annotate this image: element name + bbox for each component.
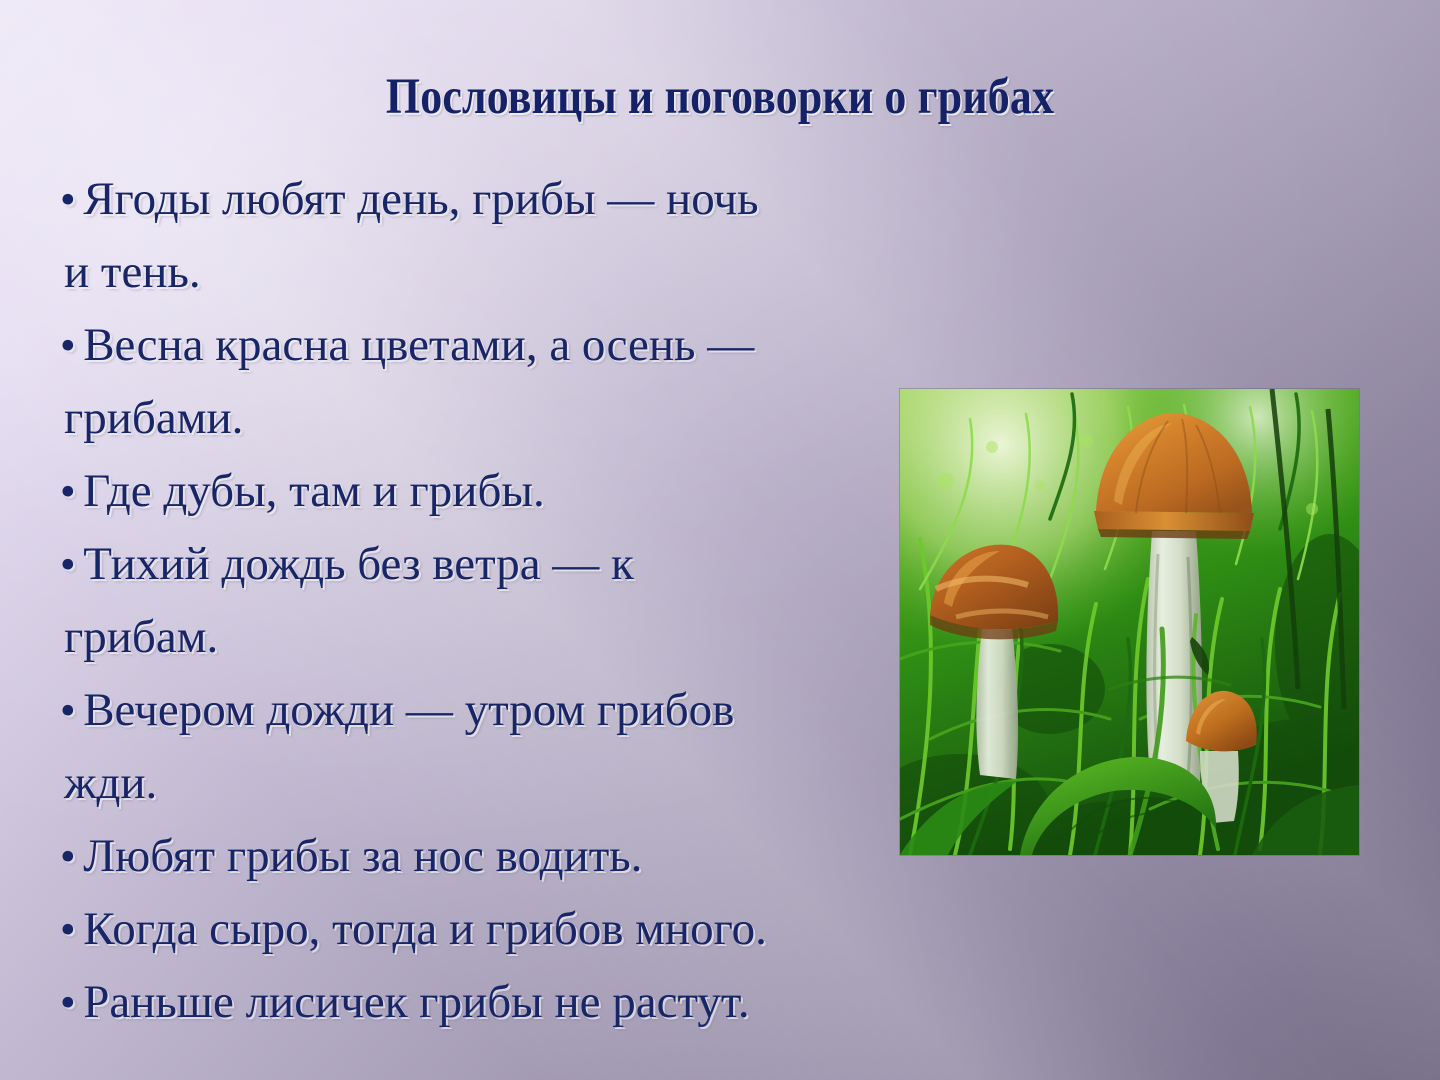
proverb-item: •Весна красна цветами, а осень —	[60, 309, 930, 382]
proverb-text: грибами.	[64, 392, 243, 444]
proverb-text: Когда сыро, тогда и грибов много.	[83, 903, 767, 955]
proverb-text: Весна красна цветами, а осень —	[83, 319, 754, 371]
proverb-text: Ягоды любят день, грибы — ночь	[83, 173, 758, 225]
mushroom-photo	[900, 389, 1359, 855]
bullet-icon: •	[60, 907, 83, 952]
mushroom-photo-image	[900, 389, 1359, 855]
proverb-continuation-line: грибам.	[60, 601, 930, 674]
proverb-text: Вечером дожди — утром грибов	[83, 684, 734, 736]
proverb-text: грибам.	[64, 611, 218, 663]
proverb-continuation-line: и тень.	[60, 236, 930, 309]
proverb-text: Тихий дождь без ветра — к	[83, 538, 634, 590]
proverb-list: •Ягоды любят день, грибы — ночьи тень.•В…	[60, 163, 930, 1039]
slide: Пословицы и поговорки о грибах •Ягоды лю…	[0, 0, 1440, 1080]
bullet-icon: •	[60, 688, 83, 733]
bullet-icon: •	[60, 469, 83, 514]
bullet-icon: •	[60, 980, 83, 1025]
proverb-item: •Ягоды любят день, грибы — ночь	[60, 163, 930, 236]
proverb-text: Где дубы, там и грибы.	[83, 465, 545, 517]
proverb-text: и тень.	[64, 246, 201, 298]
proverb-item: •Тихий дождь без ветра — к	[60, 528, 930, 601]
proverb-item: •Где дубы, там и грибы.	[60, 455, 930, 528]
proverb-item: •Раньше лисичек грибы не растут.	[60, 966, 930, 1039]
proverb-continuation-line: жди.	[60, 747, 930, 820]
proverb-item: •Любят грибы за нос водить.	[60, 820, 930, 893]
proverb-continuation-line: грибами.	[60, 382, 930, 455]
page-title: Пословицы и поговорки о грибах	[101, 68, 1339, 126]
proverb-item: •Когда сыро, тогда и грибов много.	[60, 893, 930, 966]
proverb-text: Любят грибы за нос водить.	[83, 830, 642, 882]
proverb-item: •Вечером дожди — утром грибов	[60, 674, 930, 747]
bullet-icon: •	[60, 834, 83, 879]
bullet-icon: •	[60, 177, 83, 222]
proverb-text: Раньше лисичек грибы не растут.	[83, 976, 749, 1028]
bullet-icon: •	[60, 542, 83, 587]
proverb-text: жди.	[64, 757, 157, 809]
bullet-icon: •	[60, 323, 83, 368]
